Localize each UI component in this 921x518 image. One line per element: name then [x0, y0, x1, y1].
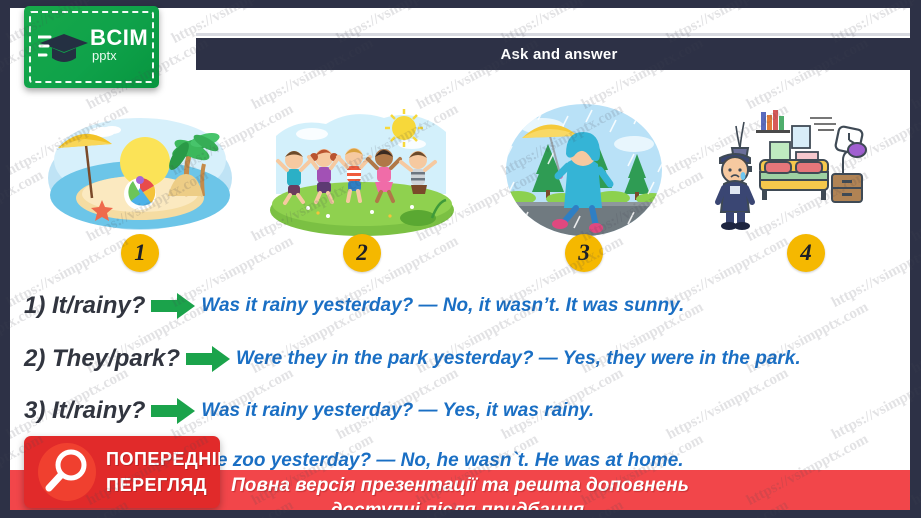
arrow-right-icon	[151, 398, 195, 424]
preview-badge-line1: ПОПЕРЕДНІЙ	[106, 446, 220, 472]
picture-badge-3: 3	[565, 234, 603, 272]
children-in-park-image	[262, 100, 462, 240]
watermark-text: https://vsimpptx.com	[909, 167, 921, 246]
exercise-row-2: 2) They/park? Were they in the park yest…	[24, 338, 910, 380]
vsimpptx-logo[interactable]: BCIM pptx	[24, 6, 159, 88]
beach-island-image	[40, 100, 240, 240]
purchase-notice-line2: доступні після придбання.	[331, 498, 590, 510]
slide-canvas: Ask and answer	[0, 0, 921, 518]
picture-badge-4: 4	[787, 234, 825, 272]
watermark-text: https://vsimpptx.com	[909, 35, 921, 114]
arrow-right-icon	[186, 346, 230, 372]
picture-row: 1	[40, 100, 906, 272]
preview-badge[interactable]: ПОПЕРЕДНІЙ ПЕРЕГЛЯД	[24, 436, 220, 508]
exercise-row-3: 3) It/rainy? Was it rainy yesterday? — Y…	[24, 390, 910, 432]
exercise-prompt-1: 1) It/rainy?	[24, 292, 145, 320]
preview-badge-text: ПОПЕРЕДНІЙ ПЕРЕГЛЯД	[106, 446, 220, 498]
watermark-text: https://vsimpptx.com	[909, 431, 921, 510]
exercise-answer-1: Was it rainy yesterday? — No, it wasn’t.…	[201, 295, 684, 317]
rainy-day-image	[484, 100, 684, 240]
boy-at-home-image	[706, 100, 906, 240]
exercise-answer-3: Was it rainy yesterday? — Yes, it was ra…	[201, 400, 594, 422]
logo-name: BCIM	[90, 27, 148, 49]
picture-badge-2: 2	[343, 234, 381, 272]
exercise-answer-2: Were they in the park yesterday? — Yes, …	[236, 348, 801, 370]
exercise-prompt-2: 2) They/park?	[24, 345, 180, 373]
picture-card-2[interactable]: 2	[262, 100, 462, 272]
purchase-notice-line1: Повна версія презентації та решта доповн…	[231, 473, 689, 498]
picture-card-1[interactable]: 1	[40, 100, 240, 272]
title-rule	[196, 33, 910, 36]
watermark-text: https://vsimpptx.com	[909, 299, 921, 378]
page-title: Ask and answer	[500, 46, 617, 63]
picture-badge-1: 1	[121, 234, 159, 272]
arrow-right-icon	[151, 293, 195, 319]
picture-card-3[interactable]: 3	[484, 100, 684, 272]
slide-title-bar: Ask and answer	[196, 38, 910, 70]
graduation-cap-icon	[38, 28, 90, 68]
exercise-prompt-3: 3) It/rainy?	[24, 397, 145, 425]
logo-subtitle: pptx	[92, 49, 117, 62]
magnifier-icon	[38, 443, 96, 501]
picture-card-4[interactable]: 4	[706, 100, 906, 272]
exercise-row-1: 1) It/rainy? Was it rainy yesterday? — N…	[24, 285, 910, 327]
preview-badge-line2: ПЕРЕГЛЯД	[106, 472, 220, 498]
